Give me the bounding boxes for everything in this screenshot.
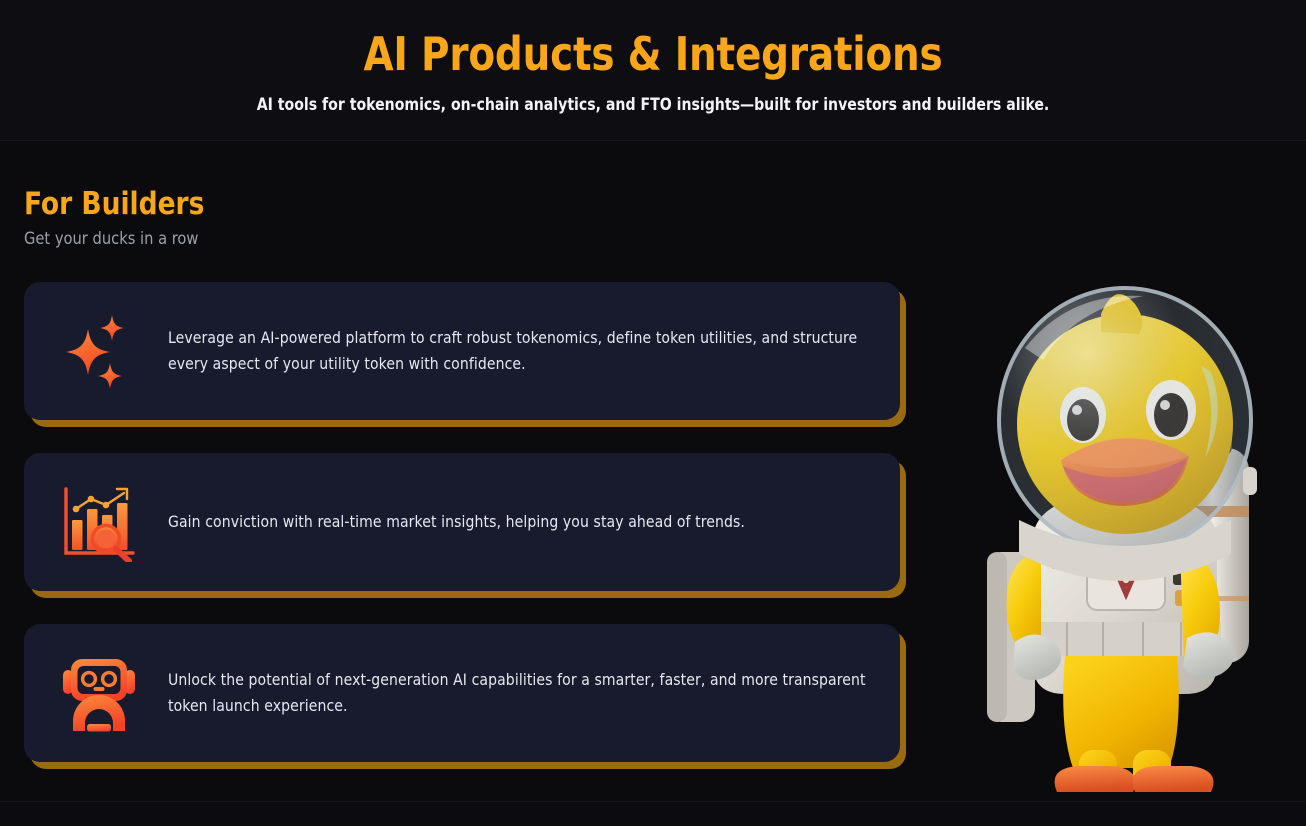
robot-icon bbox=[56, 650, 142, 736]
hero-banner: AI Products & Integrations AI tools for … bbox=[0, 0, 1306, 141]
feature-card-text: Unlock the potential of next-generation … bbox=[168, 667, 868, 719]
sparkles-icon bbox=[56, 308, 142, 394]
feature-card[interactable]: Leverage an AI-powered platform to craft… bbox=[24, 282, 900, 420]
feature-card[interactable]: Gain conviction with real-time market in… bbox=[24, 453, 900, 591]
feature-card-list: Leverage an AI-powered platform to craft… bbox=[24, 282, 906, 762]
feature-card-text: Gain conviction with real-time market in… bbox=[168, 509, 745, 535]
footer-divider bbox=[0, 801, 1306, 826]
feature-card[interactable]: Unlock the potential of next-generation … bbox=[24, 624, 900, 762]
for-builders-section: For Builders Get your ducks in a row bbox=[0, 141, 1306, 801]
section-title: For Builders bbox=[24, 185, 204, 223]
page-title: AI Products & Integrations bbox=[39, 26, 1267, 82]
section-header: For Builders Get your ducks in a row bbox=[24, 185, 214, 250]
page-subtitle: AI tools for tokenomics, on-chain analyt… bbox=[33, 94, 1274, 116]
market-analytics-icon bbox=[56, 479, 142, 565]
astronaut-duck-mascot bbox=[975, 252, 1275, 797]
feature-card-text: Leverage an AI-powered platform to craft… bbox=[168, 325, 868, 377]
section-subtitle: Get your ducks in a row bbox=[24, 228, 206, 250]
